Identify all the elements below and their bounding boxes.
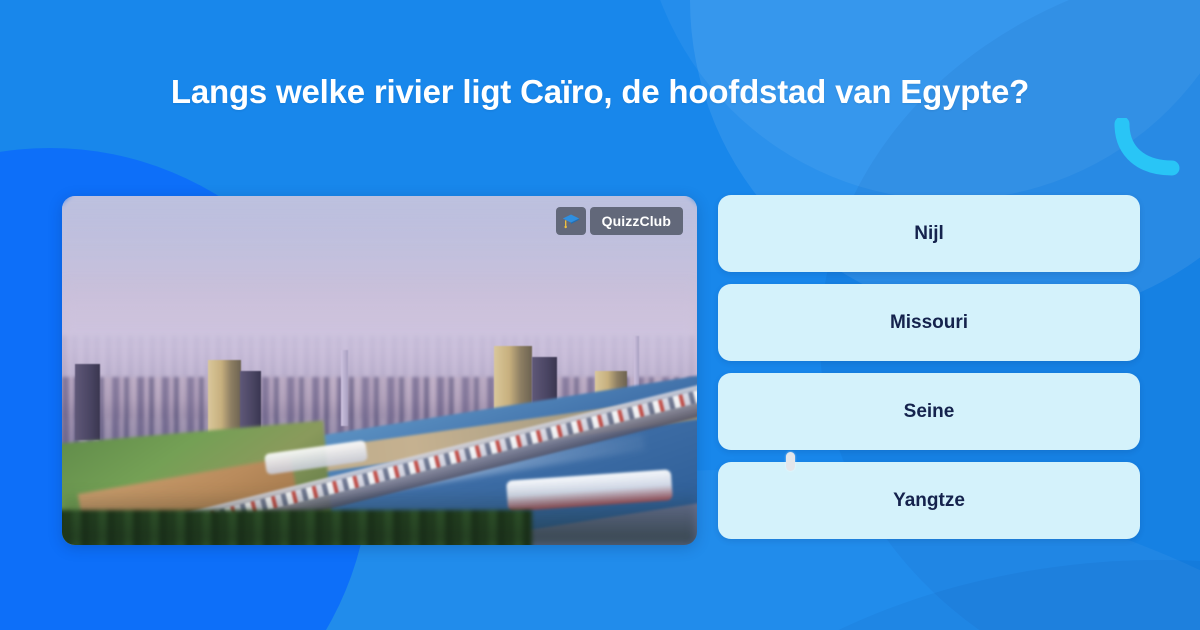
question-illustration: QuizzClub xyxy=(62,196,697,545)
watermark-brand-label: QuizzClub xyxy=(590,207,683,235)
answer-option-3[interactable]: Seine xyxy=(718,373,1140,450)
answer-option-2[interactable]: Missouri xyxy=(718,284,1140,361)
answer-option-1[interactable]: Nijl xyxy=(718,195,1140,272)
watermark-badge: QuizzClub xyxy=(556,207,683,235)
answer-option-label: Missouri xyxy=(890,312,968,334)
answer-option-label: Yangtze xyxy=(893,490,965,512)
curved-arc-decoration-icon xyxy=(1112,118,1182,178)
question-title: Langs welke rivier ligt Caïro, de hoofds… xyxy=(0,72,1200,112)
building-tower xyxy=(75,364,100,441)
building-tower xyxy=(341,350,348,427)
scrollbar-thumb[interactable] xyxy=(786,452,795,471)
answer-option-label: Seine xyxy=(904,401,955,423)
answer-option-label: Nijl xyxy=(914,223,944,245)
quiz-card: Langs welke rivier ligt Caïro, de hoofds… xyxy=(0,0,1200,630)
graduation-cap-icon xyxy=(556,207,586,235)
decorative-circle-bottom-right xyxy=(560,560,1200,630)
building-antenna xyxy=(634,336,640,392)
answer-options-list: Nijl Missouri Seine Yangtze xyxy=(718,195,1140,539)
answer-option-4[interactable]: Yangtze xyxy=(718,462,1140,539)
foreground-vignette xyxy=(62,489,697,545)
